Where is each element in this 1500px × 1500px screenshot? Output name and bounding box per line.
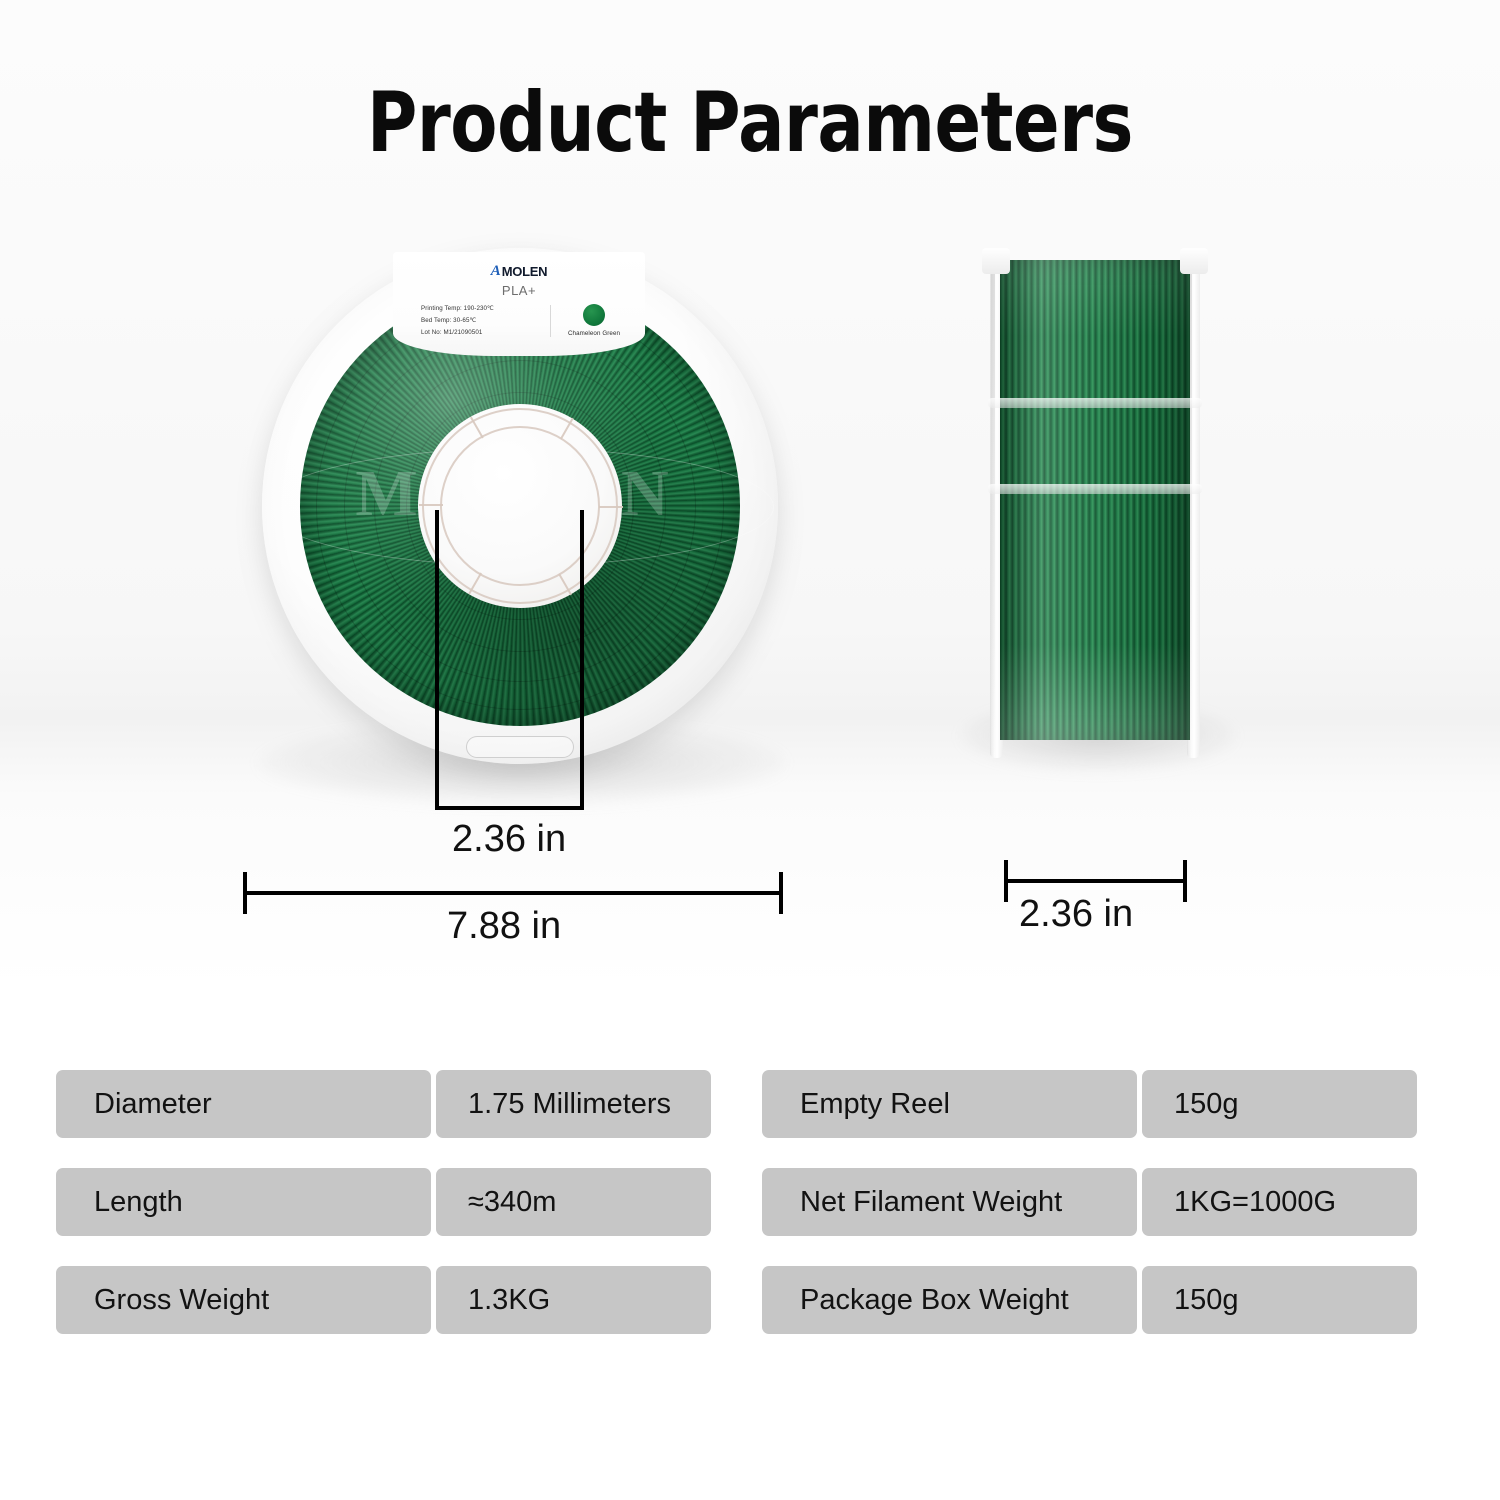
filament-winding-side <box>1000 260 1190 740</box>
filament-spool-side-view <box>1000 248 1190 758</box>
page-title: Product Parameters <box>60 74 1440 171</box>
dim-cap-right-outer <box>779 872 783 914</box>
spec-value: 150g <box>1142 1070 1417 1138</box>
table-row: Length ≈340m <box>56 1168 711 1236</box>
spool-filament-slot <box>466 736 574 758</box>
spool-hub <box>418 404 622 608</box>
spec-key: Package Box Weight <box>762 1266 1137 1334</box>
label-divider <box>550 305 551 337</box>
spec-key: Net Filament Weight <box>762 1168 1137 1236</box>
dim-cap-right-side <box>1183 860 1187 902</box>
product-image-stage: MOLEN A MOLEN PLA+ <box>0 200 1500 990</box>
spec-column-left: Diameter 1.75 Millimeters Length ≈340m G… <box>56 1070 711 1364</box>
table-row: Gross Weight 1.3KG <box>56 1266 711 1334</box>
brand-logo: A MOLEN <box>407 264 631 279</box>
product-label: A MOLEN PLA+ Printing Temp: 190-230℃ Bed… <box>393 252 645 356</box>
filament-spool-front-view: MOLEN A MOLEN PLA+ <box>262 248 778 764</box>
dim-cap-left-outer <box>243 872 247 914</box>
brand-a-mark: A <box>491 264 501 279</box>
spec-key: Gross Weight <box>56 1266 431 1334</box>
spec-key: Length <box>56 1168 431 1236</box>
spec-value: ≈340m <box>436 1168 711 1236</box>
bed-temp: Bed Temp: 30-65℃ <box>421 315 550 327</box>
product-parameters-infographic: Product Parameters MOLEN <box>0 0 1500 1500</box>
dim-cap-left-side <box>1004 860 1008 902</box>
dim-label-side-width: 2.36 in <box>1019 893 1133 936</box>
label-color-block: Chameleon Green <box>557 303 631 337</box>
spec-value: 1KG=1000G <box>1142 1168 1417 1236</box>
spec-key: Empty Reel <box>762 1070 1137 1138</box>
dim-line-side-width <box>1004 879 1187 883</box>
spool-cap-top-right <box>1180 248 1208 274</box>
table-row: Empty Reel 150g <box>762 1070 1417 1138</box>
spool-hub-band-top <box>988 398 1202 408</box>
table-row: Package Box Weight 150g <box>762 1266 1417 1334</box>
hub-spoke <box>419 504 443 506</box>
spec-value: 1.3KG <box>436 1266 711 1334</box>
lot-number: Lot No: M1/21090501 <box>421 327 550 339</box>
dim-line-outer-diameter <box>243 891 783 895</box>
dim-label-hub-width: 2.36 in <box>452 818 566 861</box>
spool-cap-top-left <box>982 248 1010 274</box>
hub-ring-inner <box>440 426 600 586</box>
color-swatch-icon <box>583 304 605 326</box>
dim-guide-left-front <box>435 510 439 810</box>
table-row: Diameter 1.75 Millimeters <box>56 1070 711 1138</box>
label-print-settings: Printing Temp: 190-230℃ Bed Temp: 30-65℃… <box>407 303 550 339</box>
color-name: Chameleon Green <box>557 330 631 337</box>
spec-key: Diameter <box>56 1070 431 1138</box>
dim-line-hub-width <box>435 806 584 810</box>
table-row: Net Filament Weight 1KG=1000G <box>762 1168 1417 1236</box>
spec-value: 1.75 Millimeters <box>436 1070 711 1138</box>
material-type: PLA+ <box>407 283 631 298</box>
printing-temp: Printing Temp: 190-230℃ <box>421 303 550 315</box>
brand-name-text: MOLEN <box>502 265 547 278</box>
dim-label-outer-diameter: 7.88 in <box>447 905 561 948</box>
spool-hub-band-bottom <box>988 484 1202 494</box>
spec-column-right: Empty Reel 150g Net Filament Weight 1KG=… <box>762 1070 1417 1364</box>
dim-guide-right-front <box>580 510 584 810</box>
hub-spoke <box>599 506 623 508</box>
spec-value: 150g <box>1142 1266 1417 1334</box>
